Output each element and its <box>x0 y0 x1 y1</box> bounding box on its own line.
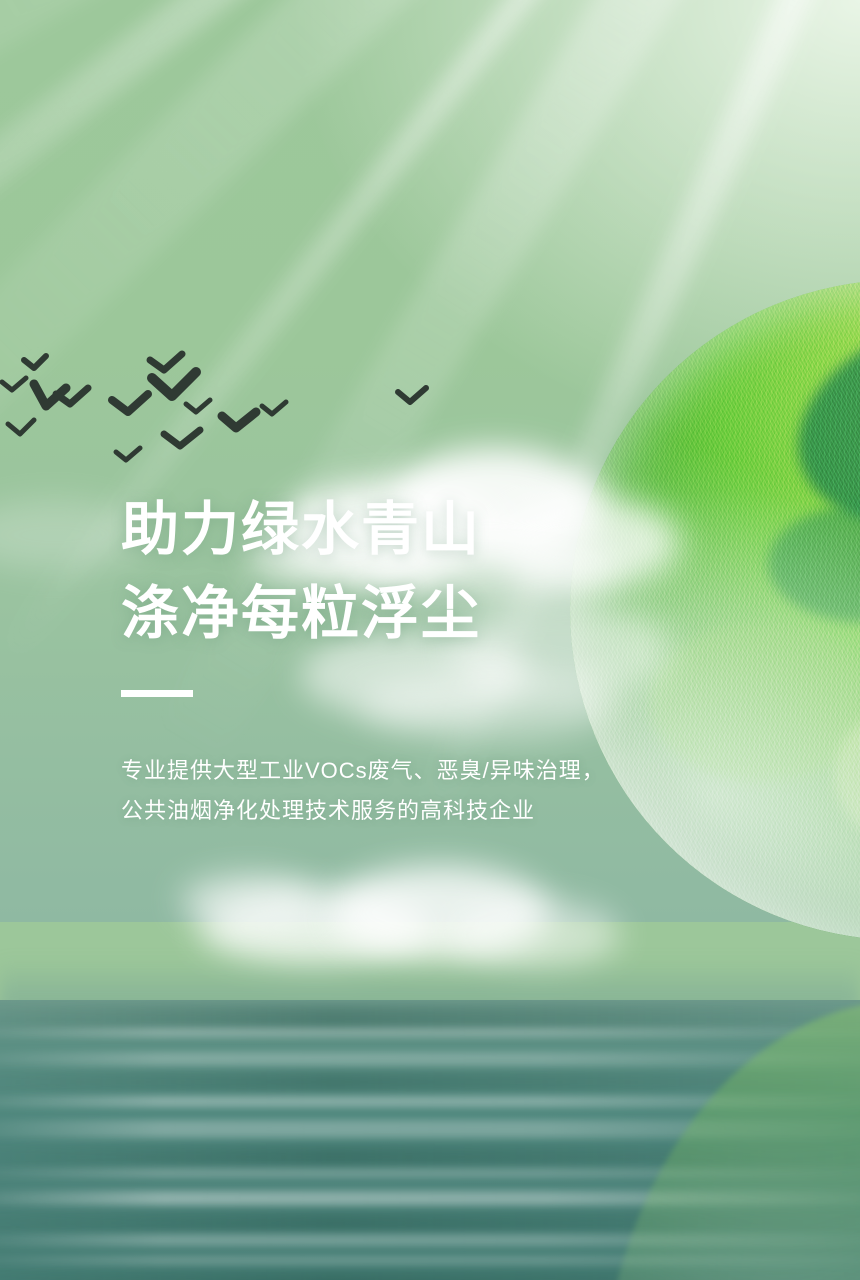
banner-copy: 助力绿水青山 涤净每粒浮尘 专业提供大型工业VOCs废气、恶臭/异味治理， 公共… <box>121 488 681 831</box>
subtitle-line-1: 专业提供大型工业VOCs废气、恶臭/异味治理， <box>121 751 681 791</box>
headline-line-2: 涤净每粒浮尘 <box>121 572 681 656</box>
promo-banner: 助力绿水青山 涤净每粒浮尘 专业提供大型工业VOCs废气、恶臭/异味治理， 公共… <box>0 0 860 1280</box>
subtitle-line-2: 公共油烟净化处理技术服务的高科技企业 <box>121 791 681 831</box>
headline-line-1: 助力绿水青山 <box>121 488 681 572</box>
headline-divider <box>121 690 193 697</box>
flying-birds-icon <box>0 330 460 470</box>
